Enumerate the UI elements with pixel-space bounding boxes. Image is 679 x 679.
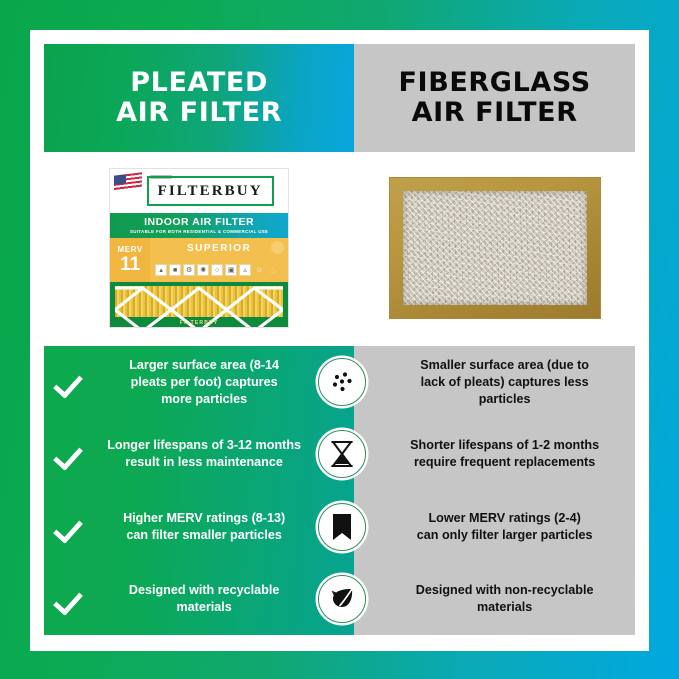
fiberglass-drawback-text: Shorter lifespans of 1-2 months require … [410,437,599,471]
header-pleated-line2: AIR FILTER [116,97,282,128]
table-row: Smaller surface area (due to lack of ple… [354,346,635,418]
benefit-line: result in less maintenance [125,455,282,469]
pleated-benefits-panel: Larger surface area (8-14 pleats per foo… [44,346,354,635]
bacteria-icon: ▣ [225,264,237,276]
pleated-benefit-text: Longer lifespans of 3-12 months result i… [86,437,320,471]
table-row: Longer lifespans of 3-12 months result i… [44,418,354,490]
package-brand-header: FILTERBUY [110,169,288,213]
fiberglass-drawback-text: Lower MERV ratings (2-4) can only filter… [417,510,593,544]
checkmark-icon [56,439,86,469]
fiberglass-drawbacks-panel: Smaller surface area (due to lack of ple… [354,346,635,635]
table-row: Designed with non-recyclable materials [354,563,635,635]
package-brand-name: FILTERBUY [158,183,263,199]
merv-label: MERV [117,246,142,254]
fiberglass-filter-photo [390,178,600,318]
pleated-filter-package: FILTERBUY INDOOR AIR FILTER SUITABLE FOR… [109,168,289,328]
package-grade-label-wrap: SUPERIOR [150,238,288,258]
bookmark-icon [318,503,366,551]
package-merv-badge: MERV 11 [110,238,150,282]
benefit-line: Designed with recyclable [129,583,279,597]
pleated-benefit-text: Larger surface area (8-14 pleats per foo… [86,357,320,408]
benefit-line: Larger surface area (8-14 [129,358,279,372]
package-grade-area: SUPERIOR ▴ ■ ⚙ ✺ ○ ▣ ▵ ✿ [150,238,288,282]
drawback-line: Designed with non-recyclable [416,583,594,597]
pet-dander-icon: ✺ [197,264,209,276]
drawback-line: lack of pleats) captures less [421,375,589,389]
package-band-title: INDOOR AIR FILTER [144,217,254,228]
header-pleated-title: PLEATED AIR FILTER [116,68,282,129]
drawback-line: can only filter larger particles [417,528,593,542]
us-flag-icon [114,172,142,192]
package-corner-seal-icon [271,241,284,254]
drawback-line: Lower MERV ratings (2-4) [428,511,580,525]
benefit-line: Higher MERV ratings (8-13) [123,511,285,525]
pollen-icon: ■ [169,264,181,276]
package-footer-brand: FILTERBUY [110,320,288,326]
table-row: Designed with recyclable materials [44,563,354,635]
package-merv-row: MERV 11 SUPERIOR ▴ ■ ⚙ [110,238,288,282]
package-band-subtitle: SUITABLE FOR BOTH RESIDENTIAL & COMMERCI… [130,230,268,234]
dust-icon: ▴ [155,264,167,276]
table-row: Lower MERV ratings (2-4) can only filter… [354,491,635,563]
benefit-line: can filter smaller particles [126,528,281,542]
benefit-line: Longer lifespans of 3-12 months [107,438,301,452]
drawback-line: require frequent replacements [414,455,595,469]
fiberglass-drawback-text: Smaller surface area (due to lack of ple… [420,357,589,408]
drawback-line: particles [479,392,531,406]
benefit-line: more particles [161,392,247,406]
benefit-line: pleats per foot) captures [131,375,278,389]
fiberglass-mesh-texture [403,191,587,305]
fiberglass-drawback-text: Designed with non-recyclable materials [416,582,594,616]
fiberglass-product-cell [354,178,635,318]
checkmark-icon [56,584,86,614]
checkmark-icon [56,512,86,542]
infographic-poster: PLEATED AIR FILTER FIBERGLASS AIR FILTER [0,0,679,679]
benefit-line: materials [176,600,231,614]
drawback-line: materials [477,600,532,614]
mold-icon: ⚙ [183,264,195,276]
header-fiberglass-line1: FIBERGLASS [399,67,591,98]
package-feature-icons: ▴ ■ ⚙ ✺ ○ ▣ ▵ ✿ △ [150,258,288,282]
package-pleat-window: FILTERBUY [110,282,288,327]
drawback-line: Shorter lifespans of 1-2 months [410,438,599,452]
table-row: Larger surface area (8-14 pleats per foo… [44,346,354,418]
smoke-icon: ○ [211,264,223,276]
checkmark-icon [56,367,86,397]
pleated-benefit-text: Designed with recyclable materials [86,582,320,616]
package-grade-label: SUPERIOR [187,243,251,254]
comparison-table: Larger surface area (8-14 pleats per foo… [44,346,635,635]
header-fiberglass-panel: FIBERGLASS AIR FILTER [354,44,635,152]
table-row: Shorter lifespans of 1-2 months require … [354,418,635,490]
product-images-row: FILTERBUY INDOOR AIR FILTER SUITABLE FOR… [44,152,635,344]
leaf-recycle-icon [318,575,366,623]
table-row: Higher MERV ratings (8-13) can filter sm… [44,491,354,563]
drawback-line: Smaller surface area (due to [420,358,589,372]
package-fineprint [150,175,172,181]
header-fiberglass-line2: AIR FILTER [412,97,578,128]
header-pleated-panel: PLEATED AIR FILTER [44,44,354,152]
pleated-product-cell: FILTERBUY INDOOR AIR FILTER SUITABLE FOR… [44,168,354,328]
poster-canvas: PLEATED AIR FILTER FIBERGLASS AIR FILTER [30,30,649,651]
package-product-band: INDOOR AIR FILTER SUITABLE FOR BOTH RESI… [110,213,288,238]
header-pleated-line1: PLEATED [130,67,268,98]
header-fiberglass-title: FIBERGLASS AIR FILTER [399,68,591,129]
allergen-icon: ▵ [239,264,251,276]
comparison-header: PLEATED AIR FILTER FIBERGLASS AIR FILTER [44,44,635,152]
lint-icon: ✿ [253,264,265,276]
pleated-benefit-text: Higher MERV ratings (8-13) can filter sm… [86,510,320,544]
merv-value: 11 [120,255,140,274]
fiber-icon: △ [267,264,279,276]
